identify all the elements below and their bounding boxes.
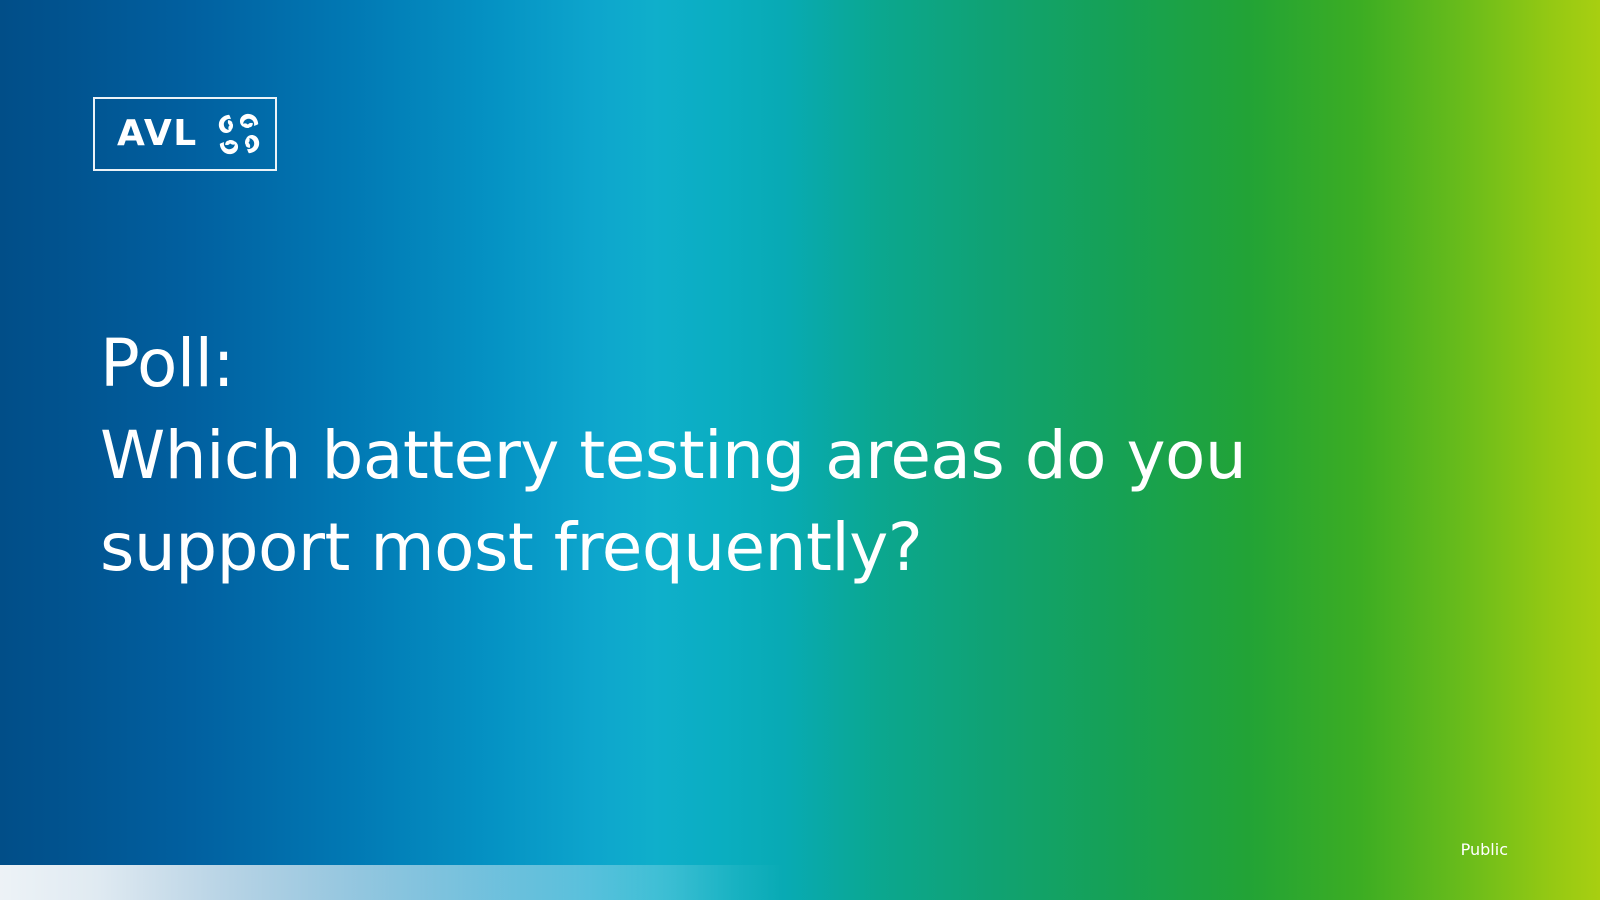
title-line-2: Which battery testing areas do you <box>100 410 1360 502</box>
title-line-1: Poll: <box>100 318 1360 410</box>
title-line-3: support most frequently? <box>100 502 1360 594</box>
avl-pinwheel-icon <box>212 108 266 160</box>
avl-wordmark: AVL <box>117 116 198 152</box>
slide-title: Poll: Which battery testing areas do you… <box>100 318 1360 594</box>
bottom-accent-band <box>0 865 1600 900</box>
presentation-slide: AVL <box>0 0 1600 900</box>
classification-label: Public <box>1461 842 1508 858</box>
avl-logo: AVL <box>93 97 277 171</box>
